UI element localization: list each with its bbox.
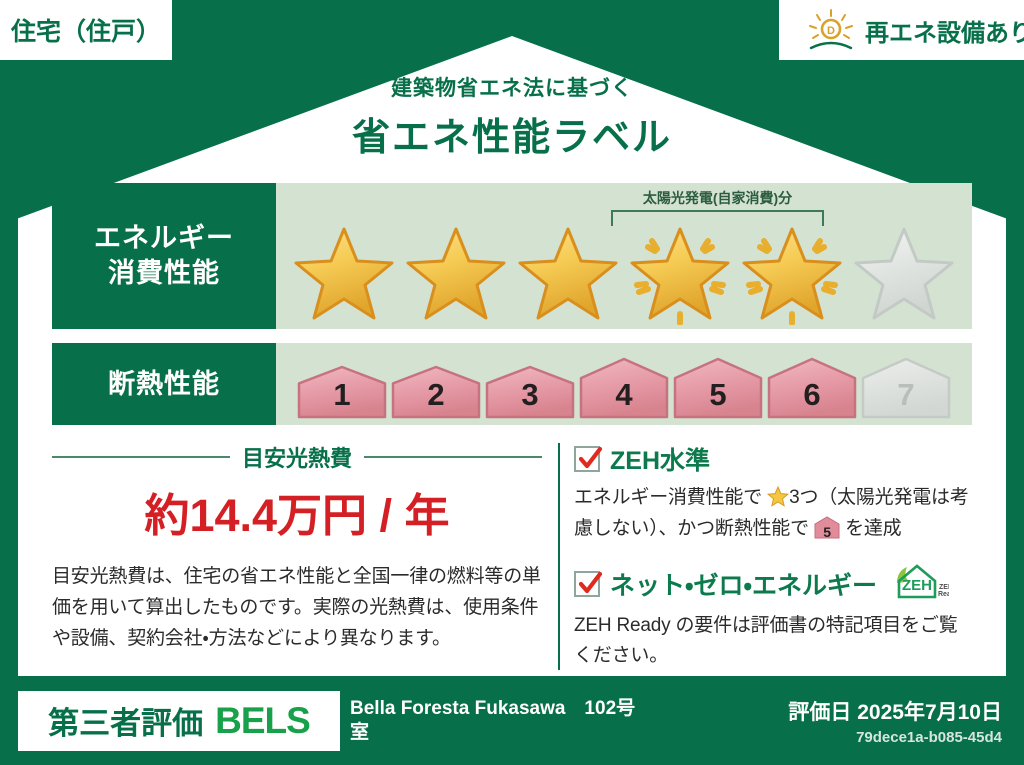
label-footer: 第三者評価 BELS Bella Foresta Fukasawa 102号室 … — [0, 676, 1024, 765]
evaluation-info: 評価日 2025年7月10日 79dece1a-b085-45d4 — [788, 696, 1002, 746]
zeh-standard-checkbox[interactable] — [574, 446, 600, 472]
bels-logo-ja: 第三者評価 — [48, 698, 203, 743]
net-zero-energy-checkbox[interactable] — [574, 571, 600, 597]
energy-label-line1: エネルギー — [94, 221, 234, 256]
insulation-house-active: 1 — [296, 365, 388, 419]
page-title-block: 建築物省エネ法に基づく 省エネ性能ラベル — [30, 48, 994, 161]
insulation-grade-inline-badge: 5 — [814, 516, 840, 539]
insulation-grade-number: 7 — [860, 377, 952, 413]
energy-performance-row: エネルギー 消費性能 太陽光発電(自家消費)分 — [52, 183, 972, 329]
net-zero-energy-item: ネット・ゼロ・エネルギー ZEH ZEH Ready ZEH Ready の要件… — [574, 563, 972, 673]
insulation-grade-number: 3 — [484, 377, 576, 413]
insulation-grade-number: 5 — [672, 377, 764, 413]
insulation-house-active: 5 — [672, 357, 764, 419]
renewable-badge-label: 再エネ設備あり — [865, 13, 1024, 48]
star-empty — [849, 219, 959, 325]
building-name: Bella Foresta Fukasawa 102号室 — [350, 697, 650, 745]
energy-performance-label: 住宅（住戸） D 再エネ設備あり 建築 — [0, 0, 1024, 765]
evaluation-id: 79dece1a-b085-45d4 — [788, 729, 1002, 746]
svg-text:D: D — [827, 25, 835, 37]
zeh-column: ZEH水準 エネルギー消費性能で 3つ（太陽光発電は考慮しない）、かつ断熱性能で… — [574, 441, 972, 672]
svg-text:Ready: Ready — [938, 591, 949, 598]
performance-rows: エネルギー 消費性能 太陽光発電(自家消費)分 断熱性能 12345 — [52, 183, 972, 425]
sun-renewable-icon: D — [805, 8, 857, 52]
zeh-standard-item: ZEH水準 エネルギー消費性能で 3つ（太陽光発電は考慮しない）、かつ断熱性能で… — [574, 441, 972, 545]
utility-cost-amount: 約14.4万円 / 年 — [52, 479, 542, 544]
insulation-grades-area: 1234567 — [276, 343, 972, 425]
page-subtitle: 建築物省エネ法に基づく — [30, 72, 994, 102]
insulation-house-active: 2 — [390, 365, 482, 419]
net-zero-energy-body: ZEH Ready の要件は評価書の特記項目をご覧ください。 — [574, 611, 972, 673]
insulation-grade-number: 4 — [578, 377, 670, 413]
insulation-grade-scale: 1234567 — [276, 343, 972, 425]
insulation-grade-number: 1 — [296, 377, 388, 413]
cost-rule-left — [52, 456, 230, 458]
insulation-house-active: 6 — [766, 357, 858, 419]
star-filled — [625, 219, 735, 325]
insulation-grade-number: 2 — [390, 377, 482, 413]
evaluation-date: 評価日 2025年7月10日 — [788, 696, 1002, 726]
evaluation-date-label: 評価日 — [788, 701, 851, 724]
net-zero-energy-title: ネット・ゼロ・エネルギー — [610, 566, 877, 602]
solar-bracket-label: 太陽光発電(自家消費)分 — [611, 188, 824, 208]
details-section: 目安光熱費 約14.4万円 / 年 目安光熱費は、住宅の省エネ性能と全国一律の燃… — [52, 441, 972, 672]
zeh-ready-logo-icon: ZEH ZEH Ready — [891, 563, 949, 605]
page-title: 省エネ性能ラベル — [30, 106, 994, 161]
renewable-equipment-badge: D 再エネ設備あり — [779, 0, 1024, 60]
insulation-performance-row: 断熱性能 1234567 — [52, 343, 972, 425]
svg-text:ZEH: ZEH — [902, 577, 932, 594]
bels-logo-en: BELS — [215, 700, 310, 742]
column-divider — [558, 443, 560, 670]
cost-rule-right — [364, 456, 542, 458]
utility-cost-title: 目安光熱費 — [242, 441, 352, 473]
zeh-body-text-1: エネルギー消費性能で — [574, 487, 767, 508]
zeh-standard-body: エネルギー消費性能で 3つ（太陽光発電は考慮しない）、かつ断熱性能で 5 を達成 — [574, 483, 972, 545]
label-content: 建築物省エネ法に基づく 省エネ性能ラベル エネルギー 消費性能 太陽光発電(自家… — [30, 48, 994, 668]
insulation-house-active: 3 — [484, 365, 576, 419]
star-filled — [737, 219, 847, 325]
bels-logo: 第三者評価 BELS — [18, 691, 340, 751]
star-rating — [276, 219, 972, 325]
svg-text:ZEH: ZEH — [939, 584, 949, 591]
insulation-grade-number: 6 — [766, 377, 858, 413]
insulation-house-inactive: 7 — [860, 357, 952, 419]
category-badge: 住宅（住戸） — [0, 0, 172, 60]
inline-house-grade: 5 — [814, 525, 840, 539]
insulation-label-text: 断熱性能 — [108, 367, 220, 402]
utility-cost-note: 目安光熱費は、住宅の省エネ性能と全国一律の燃料等の単価を用いて算出したものです。… — [52, 562, 542, 654]
star-filled — [513, 219, 623, 325]
star-icon — [767, 486, 789, 507]
category-badge-label: 住宅（住戸） — [11, 12, 161, 48]
energy-performance-stars-area: 太陽光発電(自家消費)分 — [276, 183, 972, 329]
star-filled — [401, 219, 511, 325]
energy-performance-label: エネルギー 消費性能 — [52, 183, 276, 329]
net-zero-energy-header: ネット・ゼロ・エネルギー ZEH ZEH Ready — [574, 563, 972, 605]
zeh-standard-header: ZEH水準 — [574, 441, 972, 477]
zeh-standard-title: ZEH水準 — [610, 441, 710, 477]
star-filled — [289, 219, 399, 325]
insulation-performance-label: 断熱性能 — [52, 343, 276, 425]
utility-cost-heading: 目安光熱費 — [52, 441, 542, 473]
utility-cost-column: 目安光熱費 約14.4万円 / 年 目安光熱費は、住宅の省エネ性能と全国一律の燃… — [52, 441, 558, 672]
insulation-house-active: 4 — [578, 357, 670, 419]
evaluation-date-value: 2025年7月10日 — [857, 701, 1002, 724]
zeh-body-text-3: を達成 — [840, 518, 901, 539]
energy-label-line2: 消費性能 — [108, 256, 220, 291]
